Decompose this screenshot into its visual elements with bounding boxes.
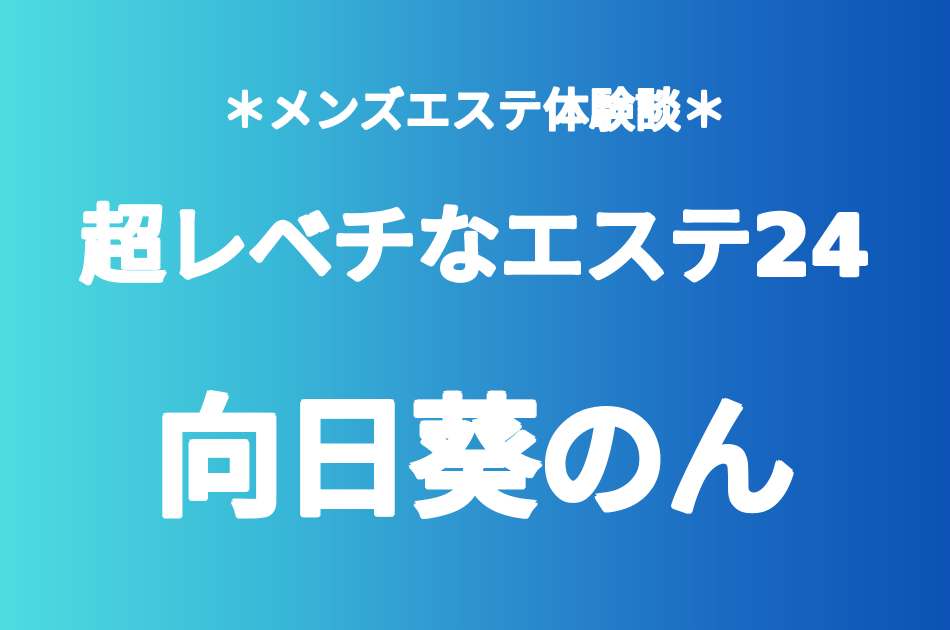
promo-banner: ＊メンズエステ体験談＊ 超レベチなエステ24 向日葵のん bbox=[0, 0, 950, 630]
banner-content: ＊メンズエステ体験談＊ 超レベチなエステ24 向日葵のん bbox=[0, 0, 950, 630]
banner-performer-name: 向日葵のん bbox=[0, 385, 950, 535]
banner-tagline: ＊メンズエステ体験談＊ bbox=[0, 82, 950, 140]
banner-headline: 超レベチなエステ24 bbox=[0, 196, 950, 296]
